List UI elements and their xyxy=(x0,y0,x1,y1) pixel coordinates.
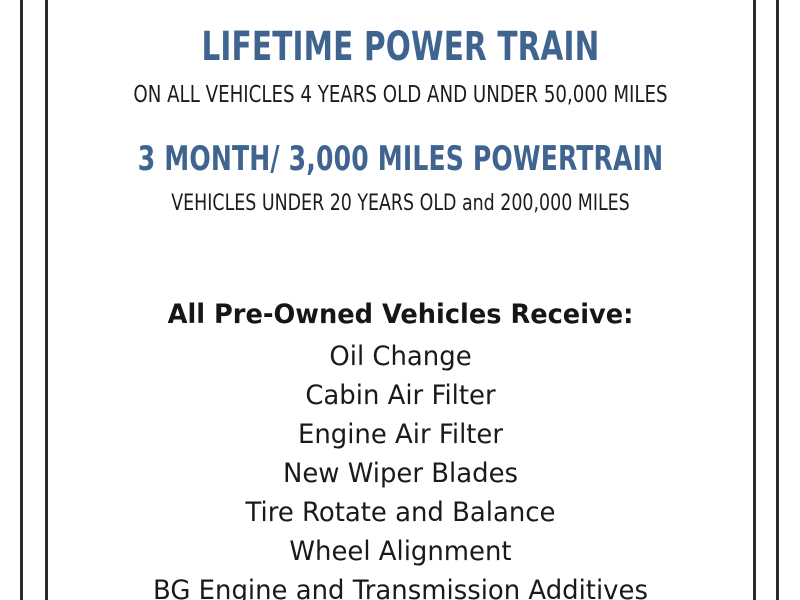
three-month-powertrain-headline: 3 MONTH/ 3,000 MILES POWERTRAIN xyxy=(111,142,689,176)
three-month-powertrain-subline: VEHICLES UNDER 20 YEARS OLD and 200,000 … xyxy=(90,193,710,215)
frame-rule-left-outer xyxy=(20,0,23,600)
frame-rule-right-inner xyxy=(753,0,756,600)
list-item: Wheel Alignment xyxy=(62,536,739,575)
list-item: New Wiper Blades xyxy=(62,458,739,497)
list-item: Cabin Air Filter xyxy=(62,380,739,419)
frame-rule-right-outer xyxy=(776,0,779,600)
services-list: Oil Change Cabin Air Filter Engine Air F… xyxy=(48,341,753,600)
list-item: Oil Change xyxy=(62,341,739,380)
lifetime-powertrain-subline: ON ALL VEHICLES 4 YEARS OLD AND UNDER 50… xyxy=(90,84,710,107)
warranty-flyer: LIFETIME POWER TRAIN ON ALL VEHICLES 4 Y… xyxy=(0,0,800,600)
list-item: Engine Air Filter xyxy=(62,419,739,458)
list-item: Tire Rotate and Balance xyxy=(62,497,739,536)
lifetime-powertrain-headline: LIFETIME POWER TRAIN xyxy=(111,27,689,67)
services-heading: All Pre-Owned Vehicles Receive: xyxy=(66,301,736,328)
list-item: BG Engine and Transmission Additives xyxy=(62,575,739,600)
flyer-content: LIFETIME POWER TRAIN ON ALL VEHICLES 4 Y… xyxy=(48,0,753,600)
